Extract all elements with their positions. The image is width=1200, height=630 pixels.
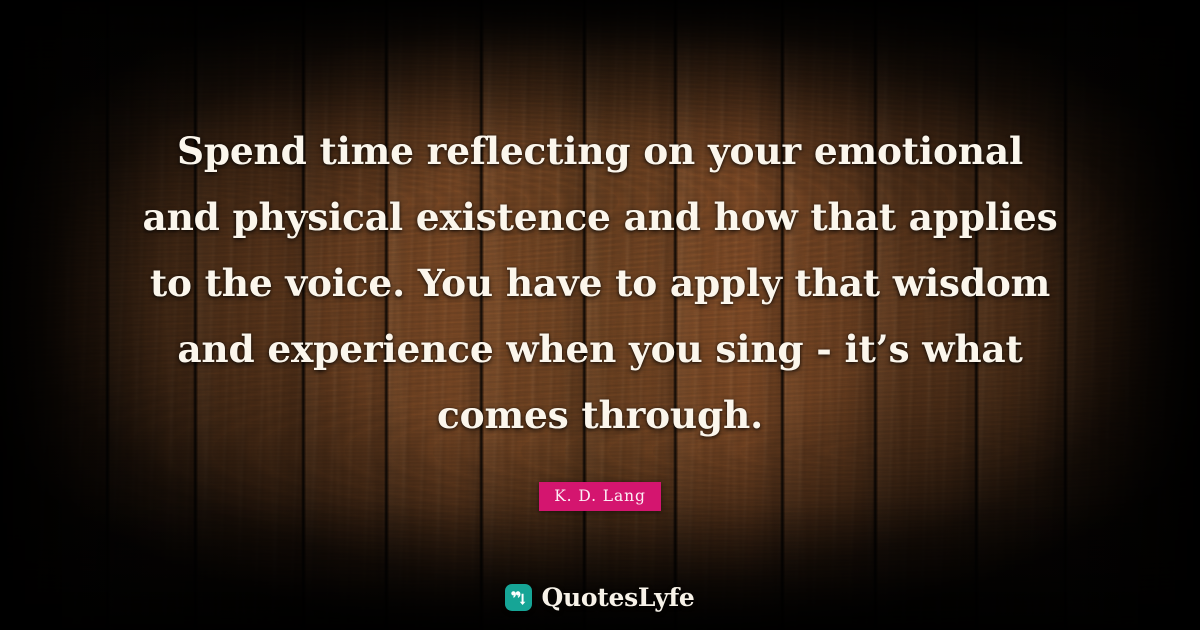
- author-badge: K. D. Lang: [539, 482, 661, 511]
- brand-logo[interactable]: QuotesLyfe: [505, 583, 694, 612]
- quote-text: Spend time reflecting on your emotional …: [140, 118, 1060, 448]
- quote-mark-icon: [505, 584, 532, 611]
- quote-card: Spend time reflecting on your emotional …: [0, 0, 1200, 630]
- brand-name: QuotesLyfe: [541, 583, 694, 612]
